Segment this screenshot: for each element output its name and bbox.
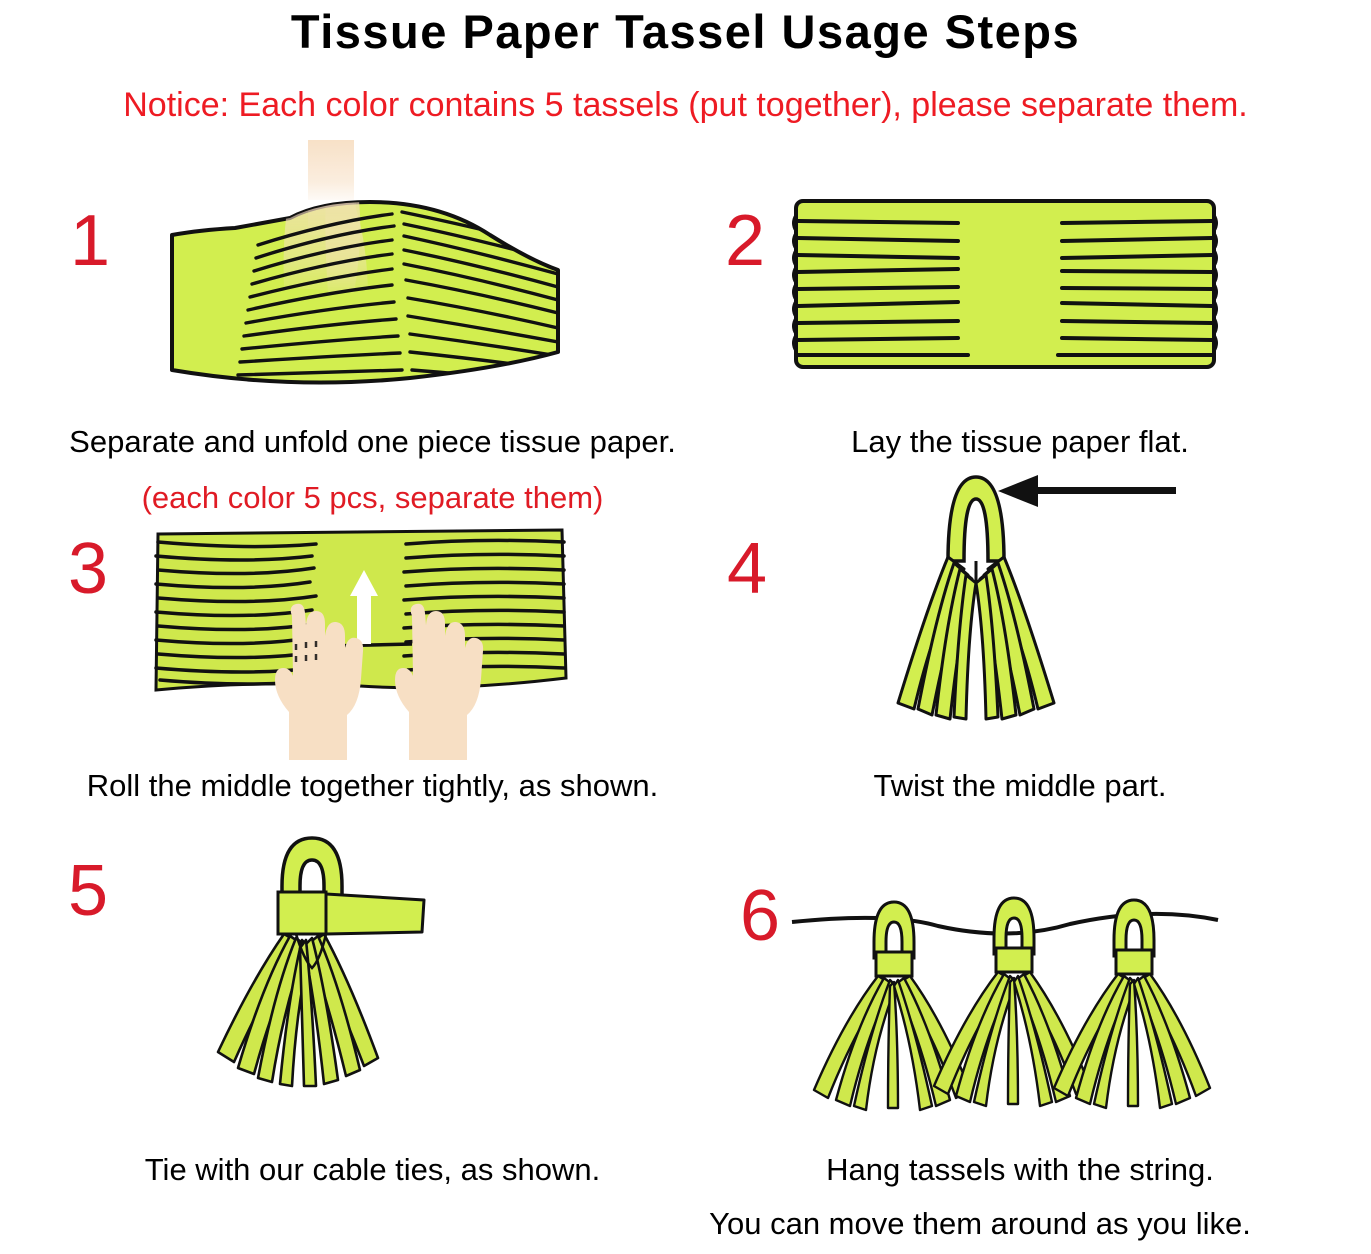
step-6-caption: Hang tassels with the string.	[690, 1152, 1350, 1188]
step-1-caption-sub: (each color 5 pcs, separate them)	[0, 480, 745, 516]
left-strands	[898, 557, 976, 719]
step-1-illustration	[140, 140, 590, 410]
step-2-caption: Lay the tissue paper flat.	[700, 424, 1340, 460]
tassel-3-tie	[1116, 950, 1152, 974]
step-number-2: 2	[725, 205, 765, 277]
step-4-illustration	[880, 465, 1180, 755]
tassel-2-loop	[994, 898, 1034, 954]
pointer-arrow-icon	[998, 475, 1176, 507]
step-number-4: 4	[727, 533, 767, 605]
tassel-strands	[218, 934, 378, 1086]
flat-tissue-sheet	[796, 201, 1214, 367]
step-number-3: 3	[68, 533, 108, 605]
right-strands	[976, 557, 1054, 719]
cable-tie	[278, 892, 424, 934]
step-2-illustration	[790, 195, 1220, 375]
step-number-5: 5	[68, 855, 108, 927]
notice-text: Notice: Each color contains 5 tassels (p…	[0, 86, 1371, 125]
step-5-caption: Tie with our cable ties, as shown.	[0, 1152, 745, 1188]
step-5-illustration	[200, 830, 500, 1130]
step-number-1: 1	[70, 205, 110, 277]
step-4-caption: Twist the middle part.	[700, 768, 1340, 804]
tassel-3-loop	[1114, 900, 1154, 956]
step-6-caption-sub: You can move them around as you like.	[600, 1206, 1360, 1242]
tassel-1-loop	[874, 902, 914, 958]
instruction-sheet: Tissue Paper Tassel Usage Steps Notice: …	[0, 0, 1371, 1254]
step-6-illustration	[770, 880, 1220, 1150]
tassel-2-tie	[996, 948, 1032, 972]
step-1-caption: Separate and unfold one piece tissue pap…	[0, 424, 745, 460]
tassel-1-tie	[876, 952, 912, 976]
twisted-loop-top	[948, 477, 1004, 561]
hand-wrist-behind-paper	[308, 140, 354, 200]
page-title: Tissue Paper Tassel Usage Steps	[0, 4, 1371, 59]
step-3-illustration	[150, 520, 570, 750]
step-3-caption: Roll the middle together tightly, as sho…	[0, 768, 745, 804]
